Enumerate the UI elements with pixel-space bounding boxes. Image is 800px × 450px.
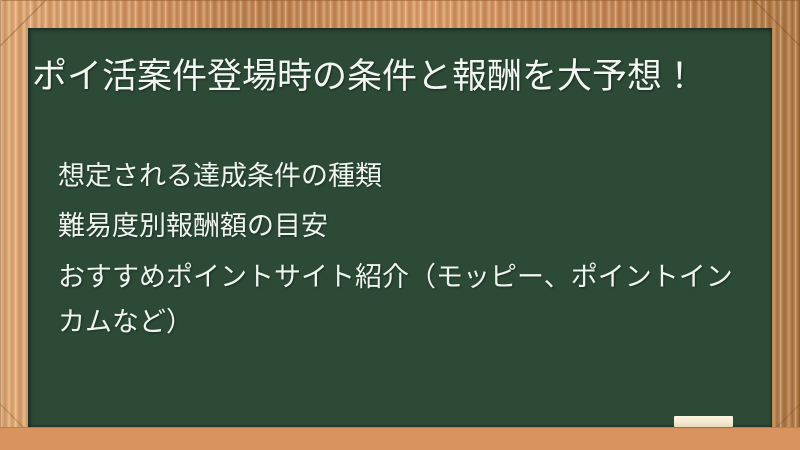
bullet-item-1: 想定される達成条件の種類 — [58, 152, 748, 202]
bullet-item-3: おすすめポイントサイト紹介（モッピー、ポイントインカムなど） — [58, 255, 748, 345]
bullet-item-2: 難易度別報酬額の目安 — [58, 202, 748, 252]
chalk-stick — [674, 416, 733, 427]
chalk-ledge — [0, 427, 800, 450]
slide-title: ポイ活案件登場時の条件と報酬を大予想！ — [32, 53, 748, 101]
chalkboard-slide: ポイ活案件登場時の条件と報酬を大予想！ 想定される達成条件の種類 難易度別報酬額… — [0, 0, 800, 450]
chalkboard-content: ポイ活案件登場時の条件と報酬を大予想！ 想定される達成条件の種類 難易度別報酬額… — [28, 28, 772, 427]
slide-bullet-list: 想定される達成条件の種類 難易度別報酬額の目安 おすすめポイントサイト紹介（モッ… — [58, 152, 748, 345]
chalkboard-surface: ポイ活案件登場時の条件と報酬を大予想！ 想定される達成条件の種類 難易度別報酬額… — [28, 28, 772, 427]
